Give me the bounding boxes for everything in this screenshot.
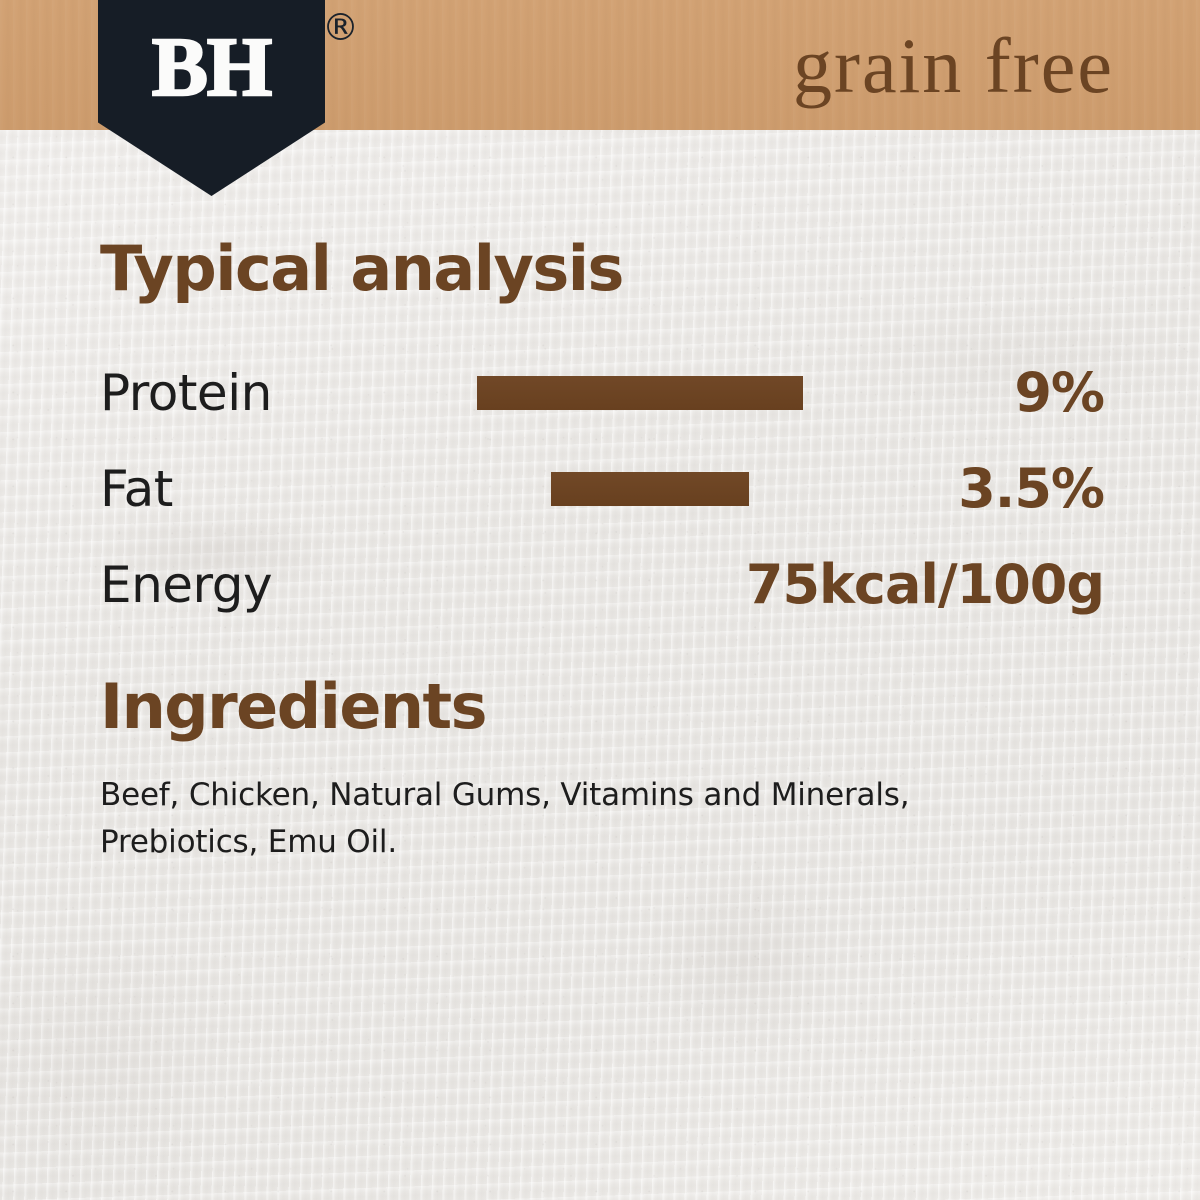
nutrition-row-protein: Protein 9% bbox=[100, 362, 1104, 424]
ingredients-list-text: Beef, Chicken, Natural Gums, Vitamins an… bbox=[100, 772, 960, 866]
label-content: Typical analysis Protein 9% Fat 3.5% Ene… bbox=[0, 0, 1200, 1200]
bar-track-fat bbox=[173, 458, 938, 520]
nutrient-label-protein: Protein bbox=[100, 362, 272, 424]
nutrient-value-protein: 9% bbox=[994, 362, 1104, 424]
bar-track-energy bbox=[272, 554, 700, 616]
nutrient-value-energy: 75kcal/100g bbox=[700, 554, 1104, 616]
nutrient-label-fat: Fat bbox=[100, 458, 173, 520]
nutrition-row-energy: Energy 75kcal/100g bbox=[100, 554, 1104, 616]
nutrient-bar-fat bbox=[551, 472, 749, 506]
nutrient-value-fat: 3.5% bbox=[938, 458, 1104, 520]
nutrient-label-energy: Energy bbox=[100, 554, 272, 616]
typical-analysis-heading: Typical analysis bbox=[100, 238, 623, 300]
nutrition-row-fat: Fat 3.5% bbox=[100, 458, 1104, 520]
nutrient-bar-protein bbox=[477, 376, 803, 410]
ingredients-heading: Ingredients bbox=[100, 676, 486, 738]
bar-track-protein bbox=[272, 362, 994, 424]
product-label-panel: ® grain free BH Typical analysis Protein… bbox=[0, 0, 1200, 1200]
